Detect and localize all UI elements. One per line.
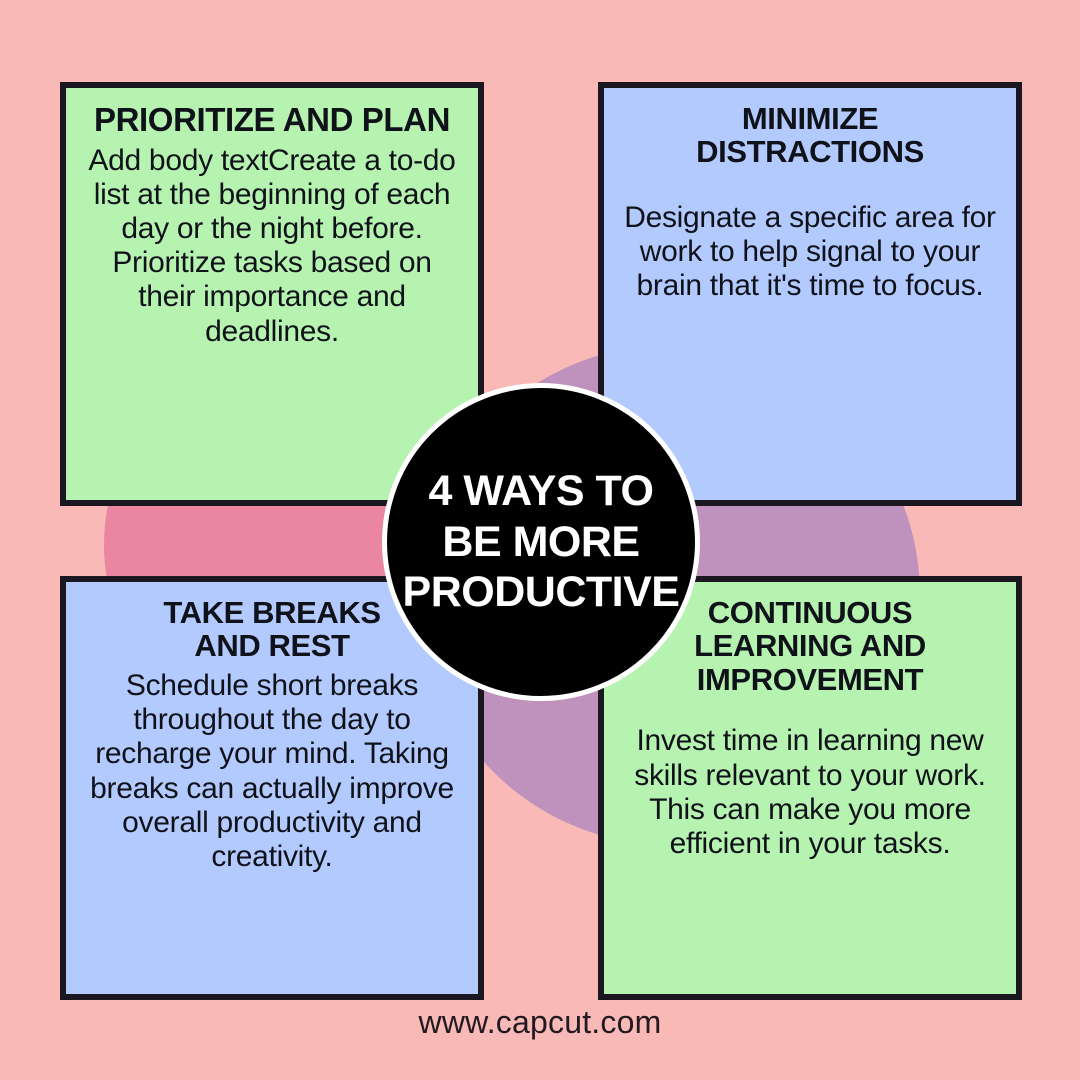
- card-title: PRIORITIZE AND PLAN: [94, 102, 450, 138]
- footer-url: www.capcut.com: [0, 1004, 1080, 1041]
- card-title: TAKE BREAKS AND REST: [163, 596, 380, 663]
- infographic-canvas: PRIORITIZE AND PLAN Add body textCreate …: [0, 0, 1080, 1080]
- card-body: Schedule short breaks throughout the day…: [84, 669, 460, 874]
- card-body: Invest time in learning new skills relev…: [622, 724, 998, 861]
- card-body: Add body textCreate a to-do list at the …: [84, 144, 460, 349]
- badge-title: 4 WAYS TO BE MORE PRODUCTIVE: [387, 466, 695, 618]
- card-body: Designate a specific area for work to he…: [622, 201, 998, 304]
- card-title: CONTINUOUS LEARNING AND IMPROVEMENT: [694, 596, 926, 696]
- card-title: MINIMIZE DISTRACTIONS: [696, 102, 924, 169]
- center-badge: 4 WAYS TO BE MORE PRODUCTIVE: [382, 383, 700, 701]
